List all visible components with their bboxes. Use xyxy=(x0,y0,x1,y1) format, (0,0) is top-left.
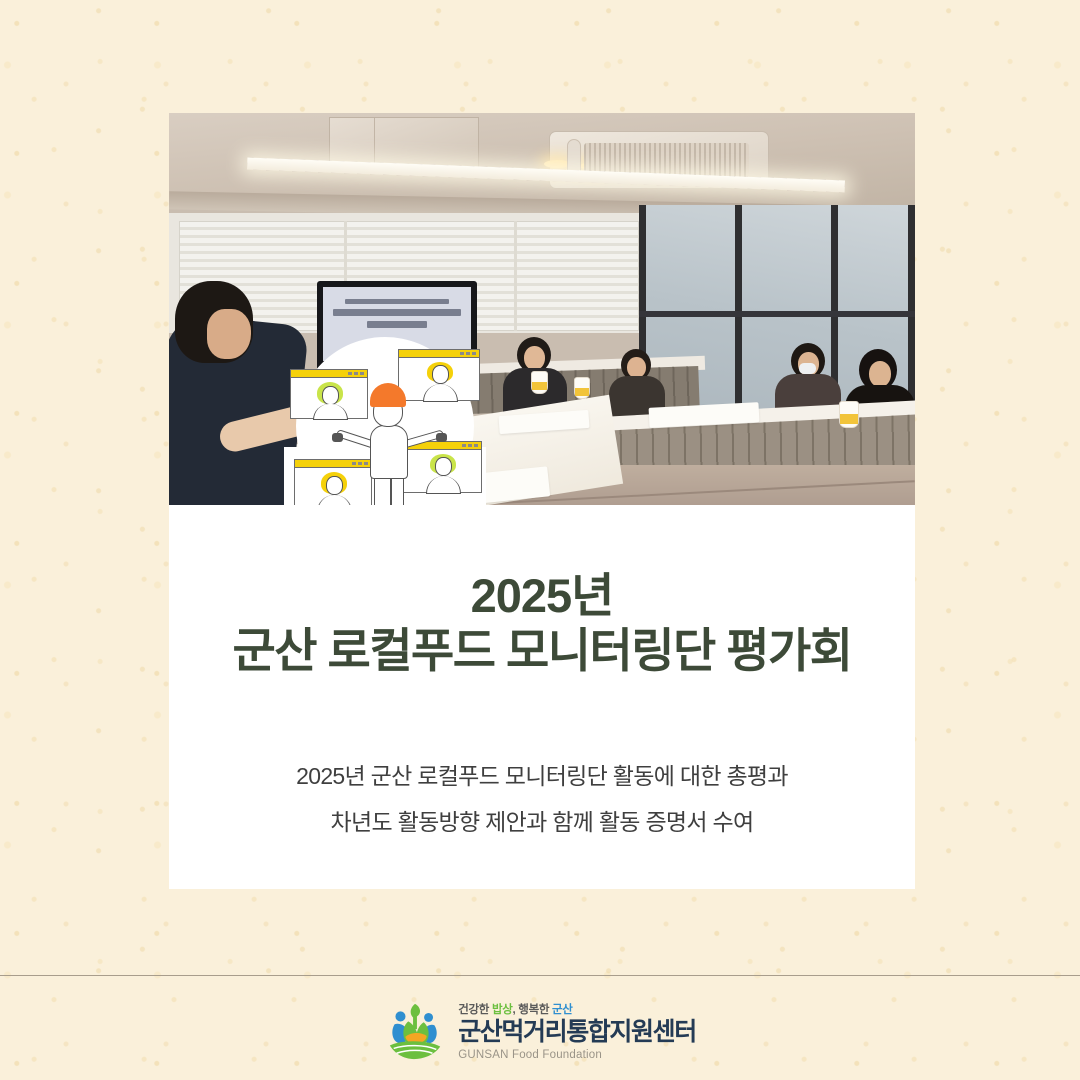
presenter-right-hand xyxy=(436,433,447,442)
blind-divider xyxy=(514,221,517,331)
page-title: 2025년 군산 로컬푸드 모니터링단 평가회 xyxy=(169,568,915,680)
title-line-1: 2025년 xyxy=(169,568,915,623)
coffee-cup xyxy=(574,377,590,399)
participant-face xyxy=(627,357,646,378)
screen-text-line xyxy=(367,321,427,328)
tagline-part-1: 건강한 xyxy=(458,1004,492,1016)
window-controls-icon xyxy=(348,372,364,375)
presenter-left-hand xyxy=(332,433,343,442)
participant-face xyxy=(435,457,452,476)
presenter-legs xyxy=(374,477,404,505)
participant-body xyxy=(317,495,352,505)
organization-name-english: GUNSAN Food Foundation xyxy=(458,1049,696,1061)
coffee-cup xyxy=(839,401,859,428)
foreground-person-face xyxy=(207,309,251,359)
video-window-titlebar xyxy=(291,370,367,378)
participant-body xyxy=(313,404,348,420)
subtitle-line-2: 차년도 활동방향 제안과 함께 활동 증명서 수여 xyxy=(169,799,915,845)
meeting-room-photo xyxy=(169,113,915,505)
participant-face xyxy=(326,476,343,495)
subtitle-line-1: 2025년 군산 로컬푸드 모니터링단 활동에 대한 총평과 xyxy=(169,753,915,799)
tagline-part-2: , 행복한 xyxy=(513,1004,553,1016)
window-mullion-horizontal xyxy=(639,311,915,317)
logo-tagline: 건강한 밥상, 행복한 군산 xyxy=(458,1001,696,1017)
participant-face xyxy=(869,361,891,387)
participant-body xyxy=(426,476,461,494)
window-controls-icon xyxy=(462,444,478,447)
online-meeting-illustration xyxy=(284,347,486,505)
video-window-titlebar xyxy=(399,350,479,358)
organization-name: 군산먹거리통합지원센터 xyxy=(458,1019,696,1047)
screen-text-line xyxy=(333,309,461,316)
coffee-cup xyxy=(531,371,548,394)
presenter-hair xyxy=(370,383,406,407)
window-controls-icon xyxy=(460,352,476,355)
logo-text-block: 건강한 밥상, 행복한 군산 군산먹거리통합지원센터 GUNSAN Food F… xyxy=(458,1001,696,1061)
participant-face xyxy=(322,386,339,405)
presenter-torso xyxy=(370,425,408,479)
footer-divider xyxy=(0,975,1080,976)
leg-divider xyxy=(390,477,392,505)
footer: 건강한 밥상, 행복한 군산 군산먹거리통합지원센터 GUNSAN Food F… xyxy=(0,982,1080,1080)
face-mask xyxy=(799,363,816,374)
video-window xyxy=(294,459,372,505)
video-window xyxy=(290,369,368,419)
tagline-highlight-1: 밥상 xyxy=(492,1004,513,1016)
content-card: 2025년 군산 로컬푸드 모니터링단 평가회 2025년 군산 로컬푸드 모니… xyxy=(169,113,915,889)
screen-text-line xyxy=(345,299,449,304)
tagline-highlight-2: 군산 xyxy=(552,1004,573,1016)
participant-body xyxy=(423,384,458,402)
presenter-figure xyxy=(362,383,416,505)
title-line-2: 군산 로컬푸드 모니터링단 평가회 xyxy=(169,623,915,679)
page-subtitle: 2025년 군산 로컬푸드 모니터링단 활동에 대한 총평과 차년도 활동방향 … xyxy=(169,753,915,845)
participant-face xyxy=(432,365,449,384)
video-window-titlebar xyxy=(295,460,371,468)
participant-face xyxy=(524,346,545,370)
gunsan-food-foundation-logo-icon xyxy=(384,1000,446,1062)
